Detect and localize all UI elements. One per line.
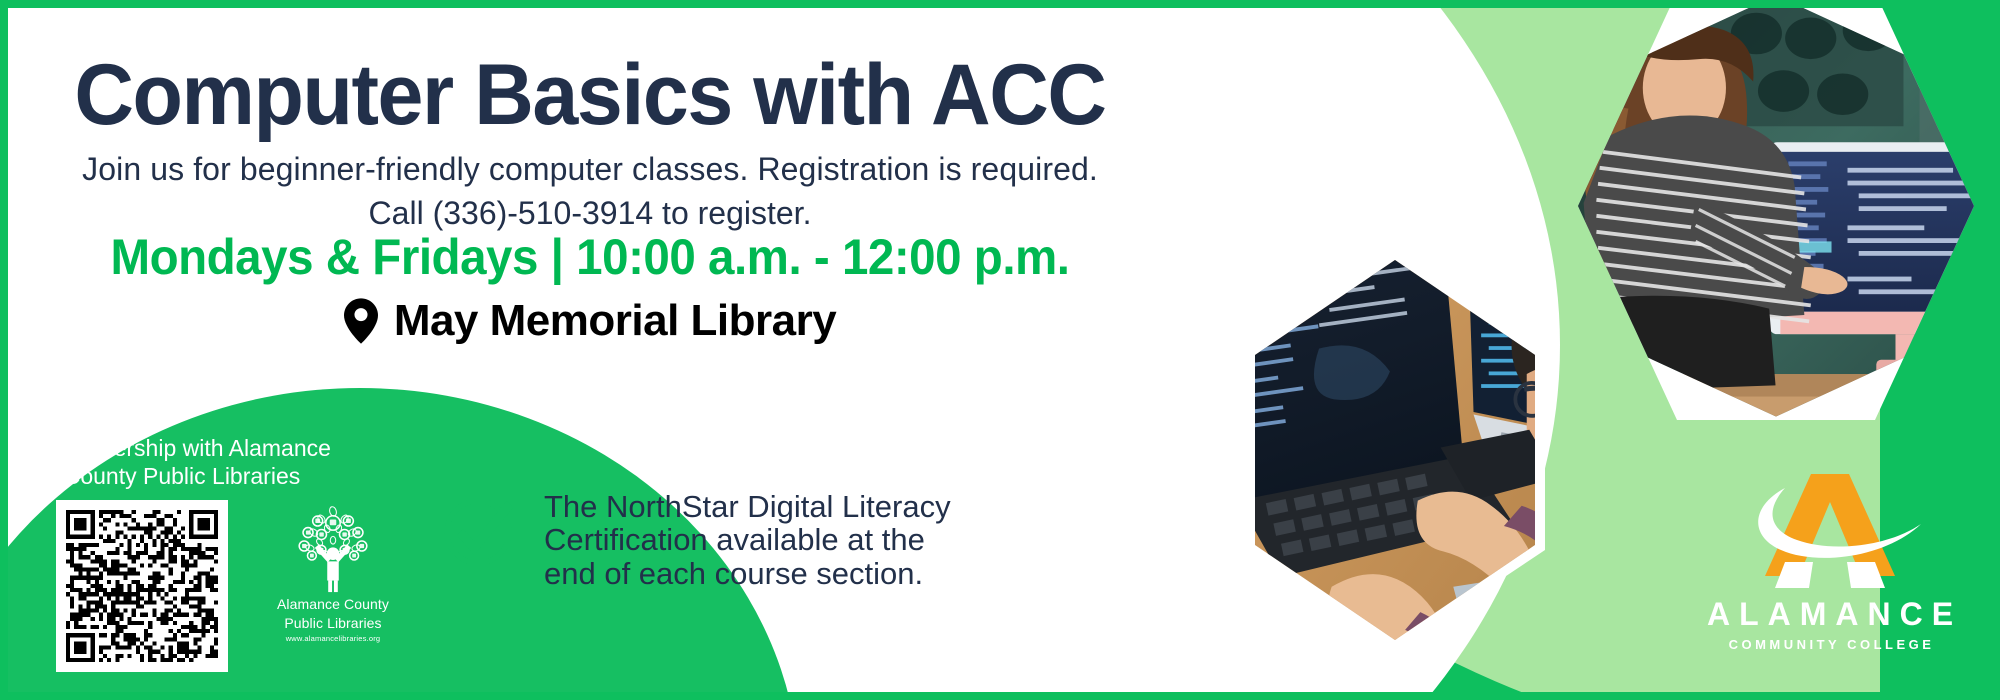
northstar-text: The NorthStar Digital Literacy Certifica… [544, 490, 951, 590]
acc-name: ALAMANCE [1690, 596, 1970, 633]
alamance-community-college-logo: ALAMANCE COMMUNITY COLLEGE [1690, 466, 1970, 652]
partnership-line-1: In Partnership with Alamance [22, 434, 342, 462]
acc-subname: COMMUNITY COLLEGE [1690, 637, 1970, 652]
subtitle-text: Join us for beginner-friendly computer c… [0, 148, 1180, 191]
northstar-line-3: end of each course section. [544, 557, 951, 590]
northstar-line-2: Certification available at the [544, 523, 951, 556]
location-row: May Memorial Library [0, 296, 1180, 346]
border-bottom [0, 692, 2000, 700]
border-left [0, 0, 8, 700]
check-circle-icon [440, 490, 520, 570]
location-label: May Memorial Library [394, 296, 836, 346]
northstar-line-1: The NorthStar Digital Literacy [544, 490, 951, 523]
partnership-line-2: County Public Libraries [22, 462, 342, 490]
schedule-text: Mondays & Fridays | 10:00 a.m. - 12:00 p… [30, 228, 1151, 286]
qr-code[interactable] [56, 500, 228, 672]
page-title: Computer Basics with ACC [24, 52, 1157, 138]
banner-content: Computer Basics with ACC Join us for beg… [0, 0, 1400, 700]
map-pin-icon [344, 298, 378, 344]
library-name-line-1: Alamance County [258, 596, 408, 613]
library-logo: Alamance County Public Libraries www.ala… [258, 498, 408, 643]
qr-code-icon[interactable] [66, 510, 218, 662]
border-top [0, 0, 2000, 8]
promotional-banner: Computer Basics with ACC Join us for beg… [0, 0, 2000, 700]
northstar-certification-block: The NorthStar Digital Literacy Certifica… [440, 490, 951, 590]
library-name-line-2: Public Libraries [258, 615, 408, 632]
tree-of-knowledge-icon [285, 498, 381, 594]
alamance-a-swoosh-icon [1725, 466, 1935, 594]
partnership-text: In Partnership with Alamance County Publ… [22, 434, 342, 490]
library-url: www.alamancelibraries.org [258, 634, 408, 643]
